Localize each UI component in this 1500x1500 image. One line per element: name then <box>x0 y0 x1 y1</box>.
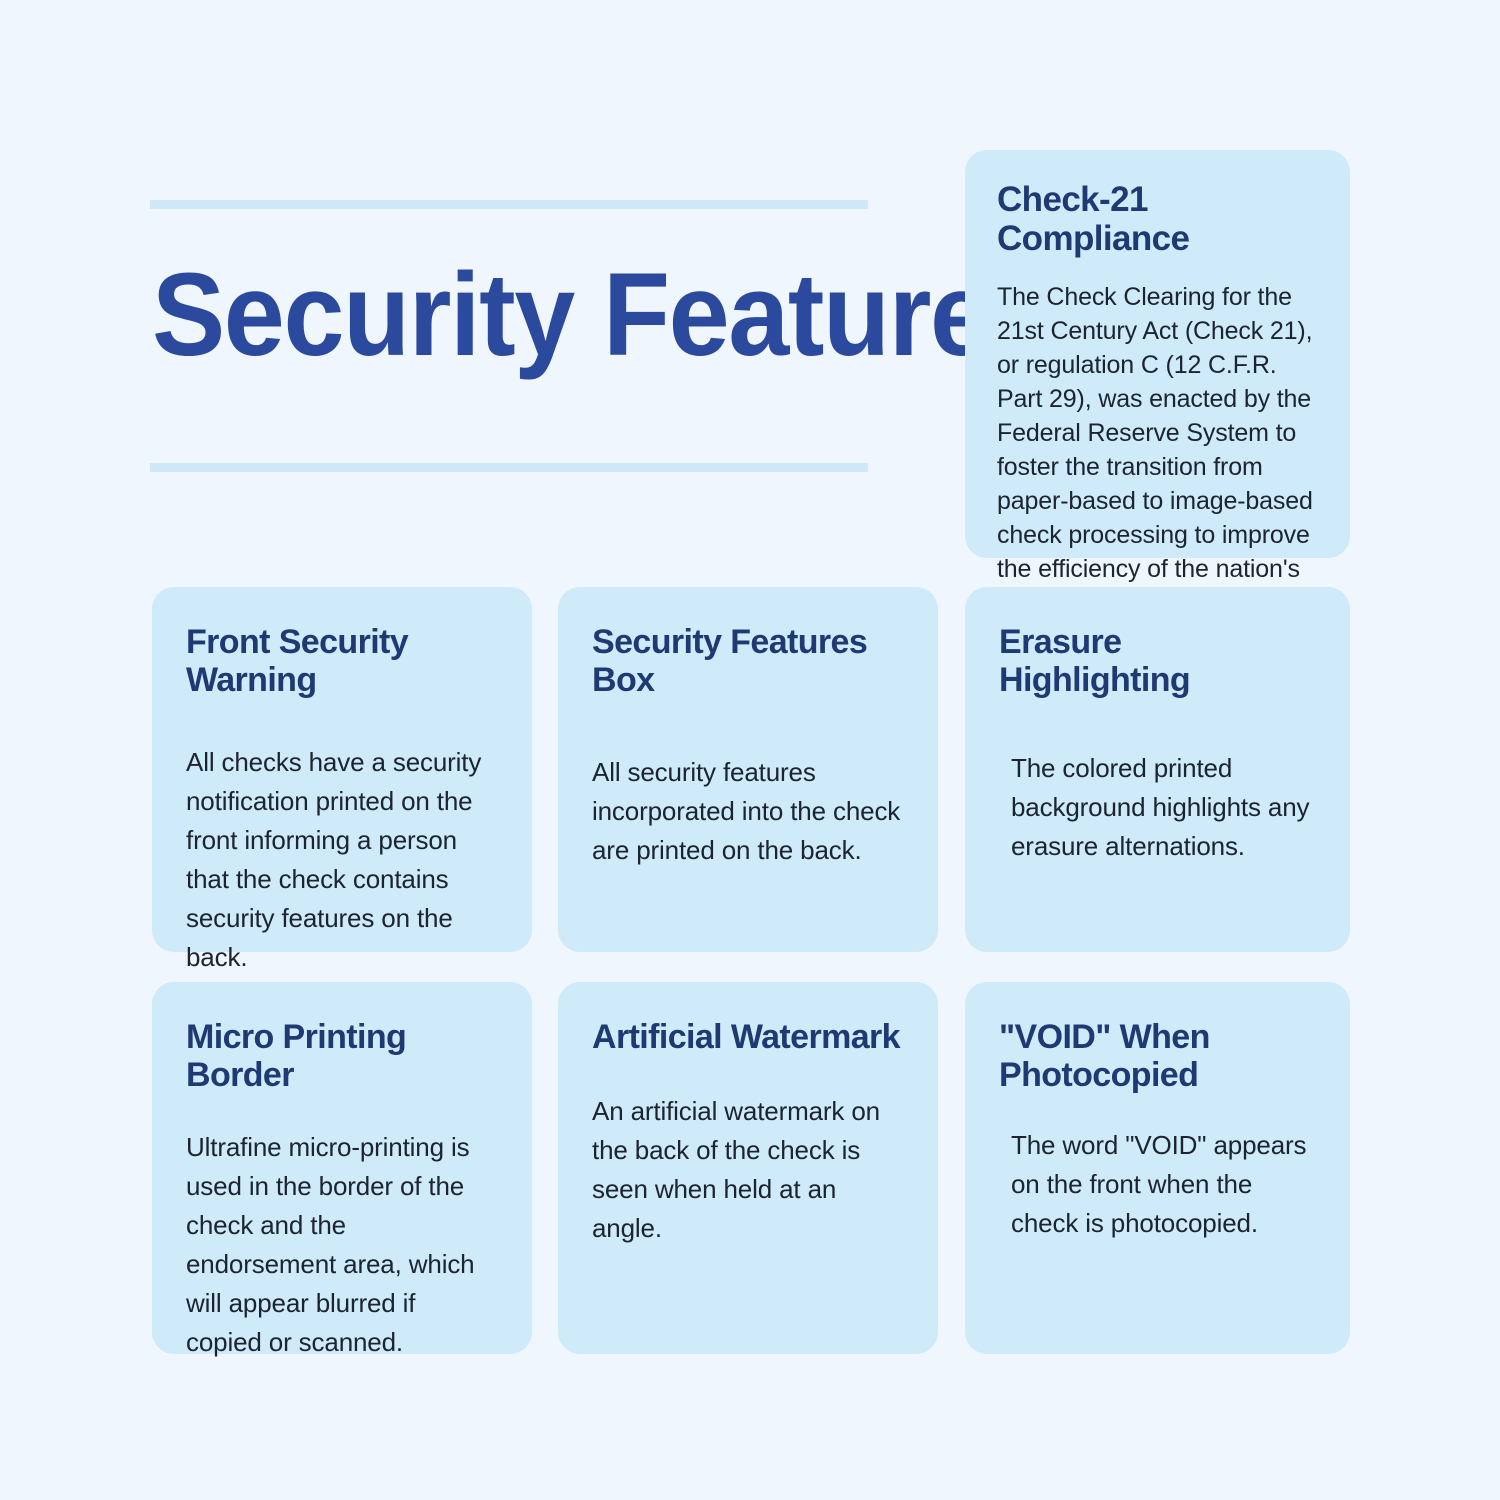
card-body-security-features-box: All security features incorporated into … <box>592 753 904 870</box>
hero-divider-bottom <box>150 463 868 472</box>
card-front-security-warning: Front Security Warning All checks have a… <box>152 587 532 952</box>
page-title: Security Features <box>152 256 818 374</box>
card-body-front-security-warning: All checks have a security notification … <box>186 743 498 977</box>
card-security-features-box: Security Features Box All security featu… <box>558 587 938 952</box>
card-heading-void-when-photocopied: "VOID" When Photocopied <box>999 1018 1316 1094</box>
card-heading-front-security-warning: Front Security Warning <box>186 623 498 699</box>
card-body-check-21-compliance: The Check Clearing for the 21st Century … <box>997 280 1320 620</box>
card-void-when-photocopied: "VOID" When Photocopied The word "VOID" … <box>965 982 1350 1354</box>
card-check-21-compliance: Check-21 Compliance The Check Clearing f… <box>965 150 1350 558</box>
card-body-artificial-watermark: An artificial watermark on the back of t… <box>592 1092 904 1248</box>
card-heading-erasure-highlighting: Erasure Highlighting <box>999 623 1316 699</box>
card-heading-artificial-watermark: Artificial Watermark <box>592 1018 904 1056</box>
card-body-erasure-highlighting: The colored printed background highlight… <box>999 749 1316 866</box>
card-micro-printing-border: Micro Printing Border Ultrafine micro-pr… <box>152 982 532 1354</box>
card-artificial-watermark: Artificial Watermark An artificial water… <box>558 982 938 1354</box>
card-heading-micro-printing-border: Micro Printing Border <box>186 1018 498 1094</box>
hero-title-block: Security Features <box>150 200 868 472</box>
hero-divider-top <box>150 200 868 209</box>
card-erasure-highlighting: Erasure Highlighting The colored printed… <box>965 587 1350 952</box>
card-body-void-when-photocopied: The word "VOID" appears on the front whe… <box>999 1126 1316 1243</box>
card-heading-check-21-compliance: Check-21 Compliance <box>997 180 1320 258</box>
security-features-infographic: Security Features Check-21 Compliance Th… <box>0 0 1500 1500</box>
card-body-micro-printing-border: Ultrafine micro-printing is used in the … <box>186 1128 498 1362</box>
card-heading-security-features-box: Security Features Box <box>592 623 904 699</box>
